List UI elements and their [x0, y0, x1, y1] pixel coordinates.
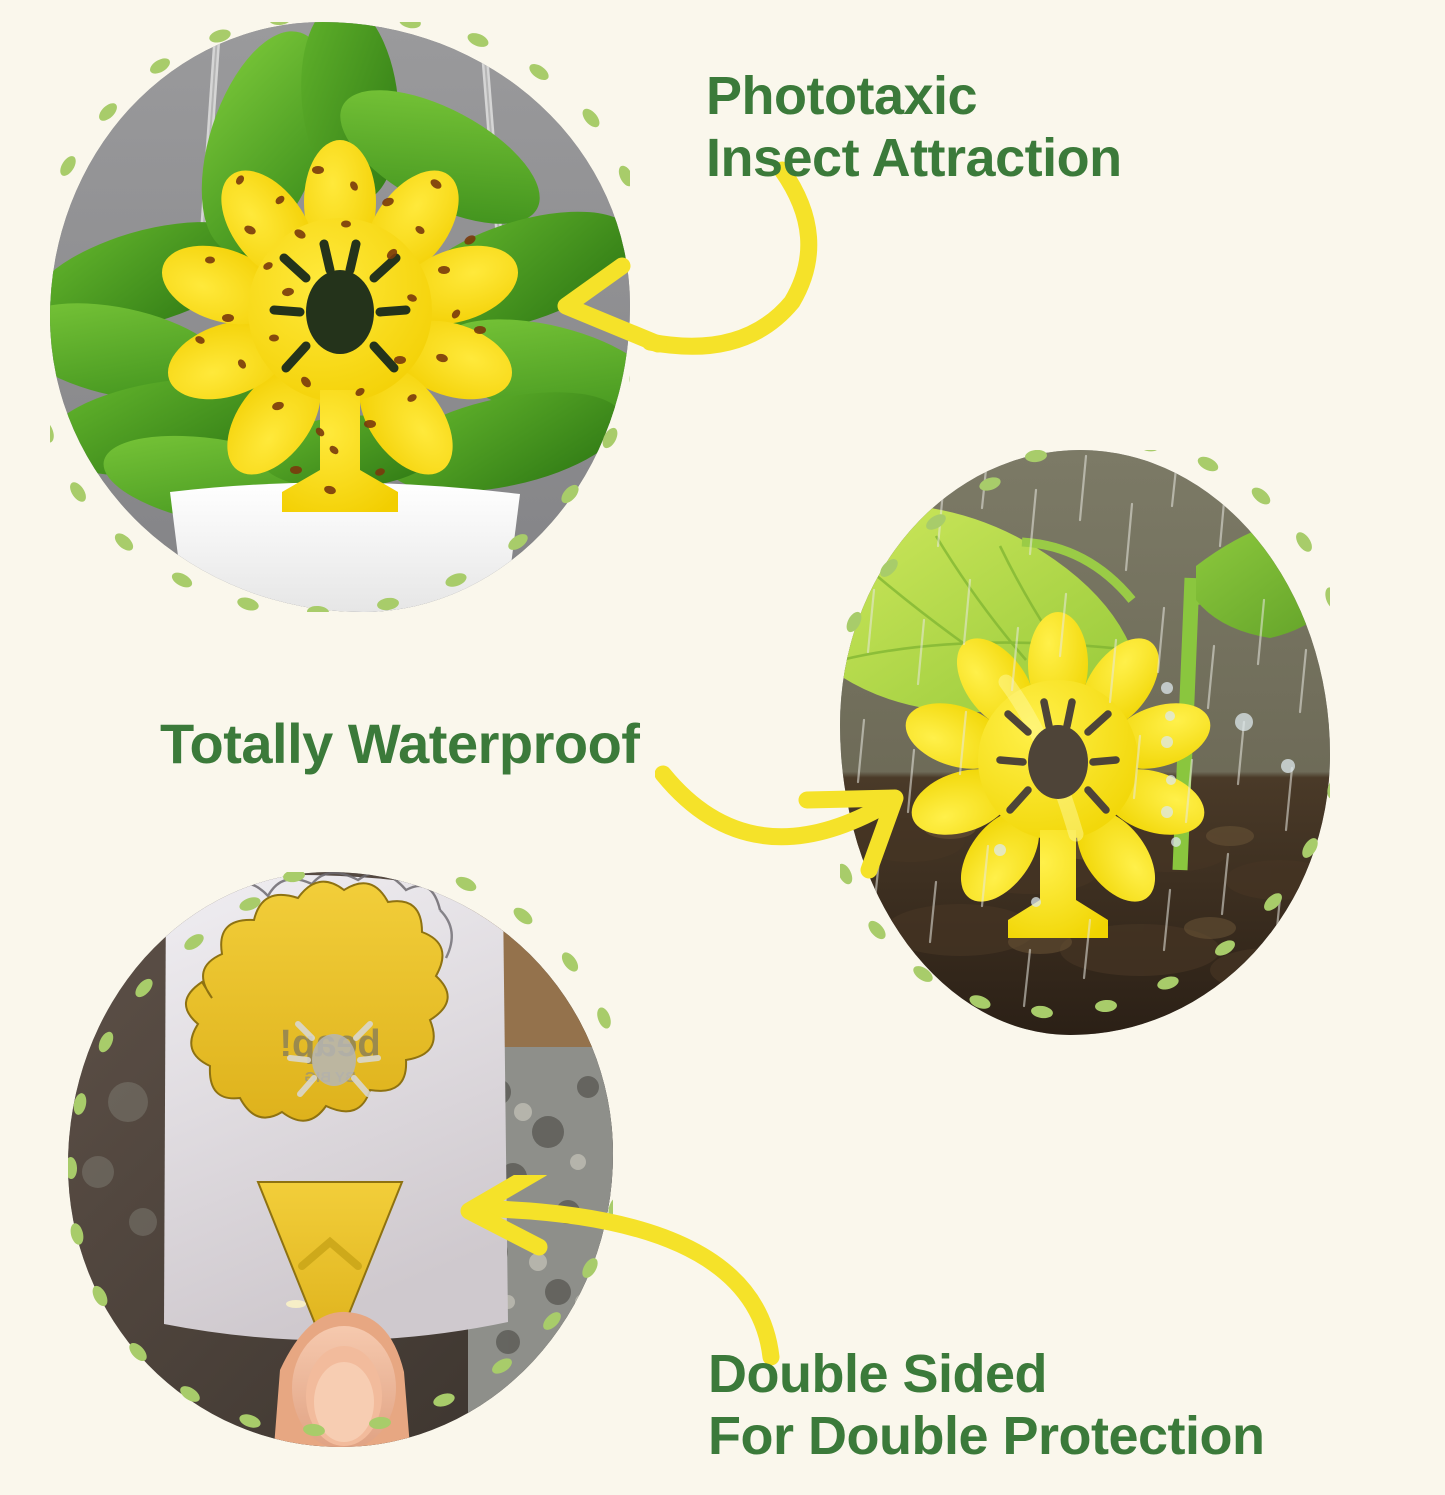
infographic-canvas: beap! BY BIG: [0, 0, 1445, 1495]
photo-clip-blob-3: beap! BY BIG: [68, 872, 613, 1447]
feature-heading-double-sided: Double Sided For Double Protection: [708, 1344, 1265, 1467]
photo-1-illustration: [50, 22, 630, 612]
photo-flower-trap-on-potted-plant: [50, 22, 630, 612]
photo-2-illustration: [840, 450, 1330, 1035]
photo-flower-trap-in-rain: [840, 450, 1330, 1035]
photo-3-illustration: beap! BY BIG: [68, 872, 613, 1447]
photo-peeling-backing-paper: beap! BY BIG: [68, 872, 613, 1447]
feature-heading-waterproof: Totally Waterproof: [160, 712, 639, 776]
photo-clip-blob-1: [50, 22, 630, 612]
photo-clip-blob-2: [840, 450, 1330, 1035]
feature-heading-phototaxic: Phototaxic Insect Attraction: [706, 66, 1122, 189]
